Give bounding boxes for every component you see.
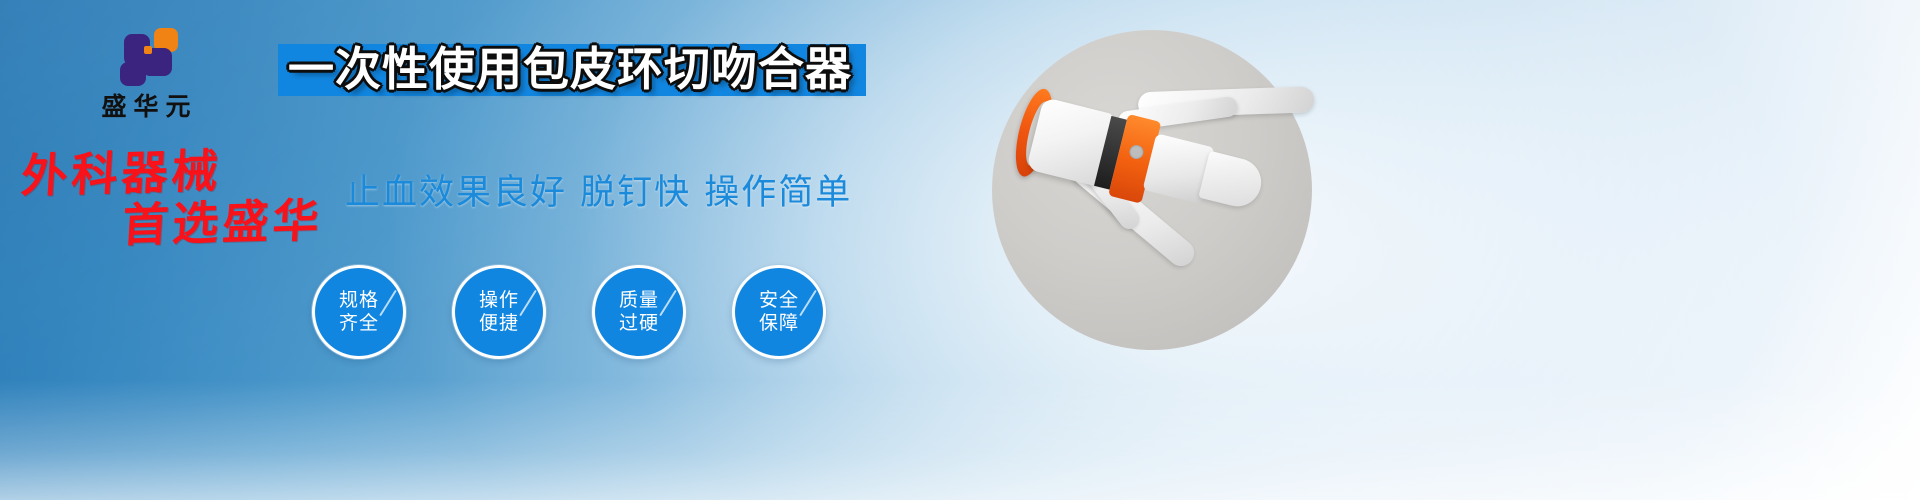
feature-badge-4-line-1: 安全 — [759, 289, 799, 312]
feature-badge-2-line-1: 操作 — [479, 289, 519, 312]
feature-badge-3[interactable]: 质量 过硬 — [592, 265, 686, 359]
calligraphy-slogan: 外科器械 首选盛华 — [17, 144, 328, 253]
slogan-line-2: 首选盛华 — [121, 196, 324, 251]
feature-badge-1-line-2: 齐全 — [339, 312, 379, 335]
feature-badge-4[interactable]: 安全 保障 — [732, 265, 826, 359]
page-title: 一次性使用包皮环切吻合器 — [288, 40, 852, 98]
brand-name: 盛华元 — [56, 94, 236, 119]
slogan-line-1: 外科器械 — [20, 144, 224, 203]
tagline: 止血效果良好 脱钉快 操作简单 — [345, 164, 852, 215]
product-image — [992, 30, 1312, 350]
feature-badge-list: 规格 齐全 操作 便捷 质量 过硬 安全 保障 — [312, 265, 826, 359]
feature-badge-1[interactable]: 规格 齐全 — [312, 265, 406, 359]
feature-badge-2[interactable]: 操作 便捷 — [452, 265, 546, 359]
feature-badge-3-line-1: 质量 — [619, 289, 659, 312]
feature-badge-2-line-2: 便捷 — [479, 312, 519, 335]
feature-badge-4-line-2: 保障 — [759, 312, 799, 335]
bottom-fade-overlay — [0, 380, 1920, 500]
feature-badge-3-line-2: 过硬 — [619, 312, 659, 335]
feature-badge-1-line-1: 规格 — [339, 289, 379, 312]
brand-logo[interactable]: 盛华元 — [56, 28, 236, 119]
cube-blocks-logo-icon — [114, 28, 178, 86]
product-banner: 盛华元 外科器械 首选盛华 一次性使用包皮环切吻合器 止血效果良好 脱钉快 操作… — [0, 0, 1920, 500]
